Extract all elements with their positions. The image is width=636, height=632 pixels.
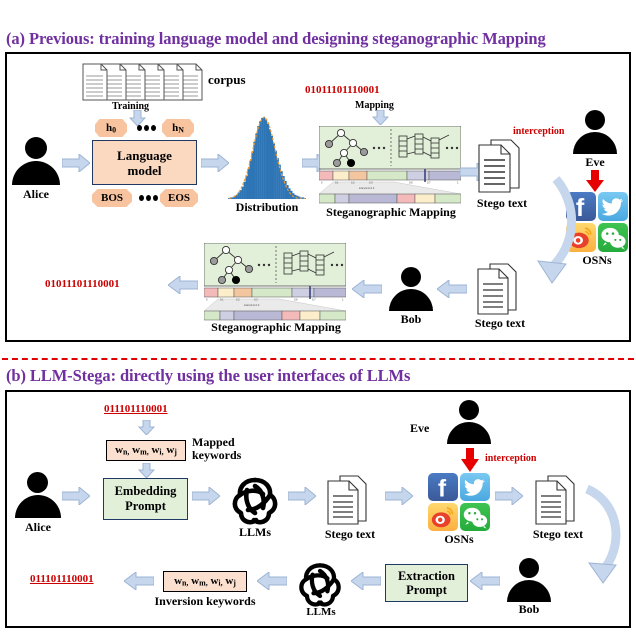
svg-text:1: 1 [342,298,344,302]
svg-text:1: 1 [457,181,459,185]
svg-text:0.3: 0.3 [369,181,373,185]
section-a-title: (a) Previous: training language model an… [6,29,546,49]
svg-text:interval is 0.2: interval is 0.2 [244,303,260,307]
svg-text:0.1: 0.1 [335,181,339,185]
svg-text:0.2: 0.2 [236,298,240,302]
alice-label-b: Alice [14,520,62,535]
embedding-prompt-box: Embedding Prompt [103,478,188,520]
arrow-extraction-to-llms-b [351,572,381,595]
svg-text:0: 0 [321,181,323,185]
mapped-keywords-label-line2: keywords [192,449,241,462]
embedding-prompt-line1: Embedding [115,484,177,499]
arrow-stegotext-to-bob-a [437,280,467,303]
svg-text:0: 0 [206,298,208,302]
bob-avatar-b [507,558,551,602]
bob-avatar-a [389,267,433,311]
arrow-alice-to-prompt-b [62,487,90,510]
twitter-icon [598,192,628,221]
language-model-box: Language model [92,140,197,185]
inversion-keywords-value: wn, wm, wi, wj [174,575,236,588]
svg-text:0.2: 0.2 [351,203,355,204]
svg-text:0.6: 0.6 [409,181,413,185]
twitter-icon [460,473,490,501]
stego-text-label-a2: Stego text [466,316,534,331]
svg-text:interval is 0.2: interval is 0.2 [359,186,375,190]
extraction-prompt-line2: Prompt [406,583,447,597]
tag-hN: hN [162,119,194,137]
facebook-icon: f [428,473,458,501]
arrow-inversion-to-bits-b [124,572,154,595]
bob-label-a: Bob [388,312,434,327]
steganographic-mapping-diagram-a: 00.10.2 0.30.60.71 00.10.2 0.70.81 inter… [319,126,461,204]
svg-text:0.7: 0.7 [399,203,403,204]
llms-logo-2 [294,558,346,608]
arrow-bob-to-mapping-a [352,280,382,303]
arrow-prompt-to-llms-b [192,487,220,510]
section-separator [2,358,634,360]
svg-text:0.1: 0.1 [337,203,341,204]
distribution-histogram [228,113,306,199]
secret-bits-top-b: 011101110001 [104,403,168,415]
lm-label-line2: model [128,163,162,178]
svg-text:0.7: 0.7 [427,181,431,185]
llms-label-2: LLMs [292,606,350,618]
arrow-llms-to-inversion-b [257,572,287,595]
mapped-keywords-box: wn, wm, wi, wj [106,440,186,461]
figure-root: (a) Previous: training language model an… [0,0,636,632]
dots-hidden-states [131,123,161,133]
extraction-prompt-box: Extraction Prompt [385,564,468,602]
arrow-alice-to-lm [62,154,90,177]
eve-label-a: Eve [572,155,618,170]
alice-avatar-a [12,137,60,185]
alice-avatar-b [15,472,61,518]
wechat-icon [460,503,490,531]
eve-label-b: Eve [410,421,429,436]
alice-label-a: Alice [11,187,61,202]
tag-bos: BOS [92,189,132,207]
weibo-icon [428,503,458,531]
secret-bits-top-a: 01011101110001 [305,84,380,96]
dots-tokens [135,193,161,203]
inversion-keywords-label: Inversion keywords [145,594,265,609]
curved-arrow-to-bob-b [575,485,630,595]
steganographic-mapping-diagram-a2: 00.10.2 0.30.60.71 00.10.2 0.70.81 inter… [204,243,346,321]
extraction-prompt-line1: Extraction [398,569,455,583]
distribution-label: Distribution [225,200,309,215]
recovered-bits-a: 01011101110001 [45,278,120,290]
interception-label-b: interception [485,453,536,464]
svg-text:0.3: 0.3 [254,298,258,302]
osns-label-b: OSNs [427,532,491,547]
svg-text:0.1: 0.1 [220,298,224,302]
stego-text-doc-b1 [322,473,378,527]
bits-to-keywords-arrow [138,420,155,440]
bob-label-b: Bob [506,602,552,617]
tag-eos: EOS [160,189,198,207]
stego-mapping-label-a2: Steganographic Mapping [197,320,355,335]
arrow-mapping-to-bits-a [168,276,198,299]
arrow-bob-to-extraction-b [470,572,500,595]
stego-text-label-b1: Stego text [316,527,384,542]
eve-avatar-a [573,110,617,154]
arrow-stegotext-to-osn-b [385,487,413,510]
stego-mapping-label-a: Steganographic Mapping [312,205,470,220]
interception-label-a: interception [513,126,564,137]
osn-icons-b: f [428,473,490,531]
wechat-icon [598,223,628,252]
llms-logo-1 [227,472,283,526]
corpus-docs [82,62,204,102]
arrow-osn-to-stegotext-b [495,487,523,510]
arrow-lm-to-distribution [201,154,229,177]
mapped-keywords-label: Mapped keywords [192,436,241,462]
svg-text:0.7: 0.7 [312,298,316,302]
svg-text:0.6: 0.6 [294,298,298,302]
mapped-keywords-value: wn, wm, wi, wj [115,444,177,457]
llms-label-1: LLMs [224,525,286,540]
eve-avatar-b [447,400,491,444]
tag-h0: h0 [95,119,127,137]
embedding-prompt-line2: Prompt [125,499,166,514]
svg-text:f: f [438,475,447,501]
svg-text:0.2: 0.2 [351,181,355,185]
lm-label-line1: Language [117,148,172,163]
arrow-llms-to-stegotext-b [288,487,316,510]
inversion-keywords-box: wn, wm, wi, wj [163,571,247,592]
section-b-title: (b) LLM-Stega: directly using the user i… [6,366,410,386]
svg-text:0.8: 0.8 [417,203,421,204]
stego-text-doc-a2 [472,261,528,317]
recovered-bits-b: 011101110001 [30,573,94,585]
corpus-label: corpus [208,72,246,88]
